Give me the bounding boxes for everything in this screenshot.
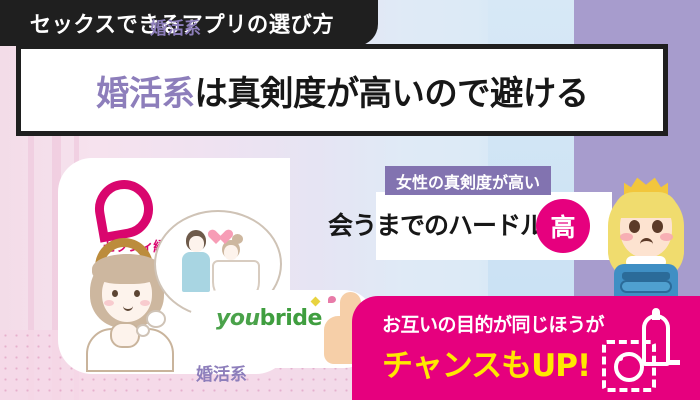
woman-blush-right: [140, 300, 150, 306]
princess-blush-right: [660, 233, 673, 241]
condom-icon: [602, 314, 678, 386]
princess-fringe: [614, 192, 678, 218]
cta-line-2: チャンスもUP!: [382, 340, 590, 385]
status-badge-label: 高: [550, 208, 575, 244]
condom-tail: [668, 360, 680, 365]
promo-banner: セックスできるアプリの選び方 婚活系は真剣度が高いので避ける ゼクシィ縁結び: [0, 0, 700, 400]
woman-eye-right: [134, 290, 140, 297]
youbride-logo-you: you: [216, 306, 260, 331]
cta-banner: お互いの目的が同じほうが チャンスもUP!: [352, 296, 700, 400]
cta-line-1: お互いの目的が同じほうが: [382, 310, 604, 337]
bride-face: [224, 245, 238, 260]
seriousness-tag: 女性の真剣度が高い: [385, 166, 551, 195]
woman-eye-left: [112, 290, 118, 297]
princess-eye-left: [629, 220, 640, 233]
condom-body: [642, 314, 670, 366]
hurdle-statement: 会うまでのハードル: [328, 206, 544, 242]
thought-bubble-dot: [146, 310, 166, 328]
princess-character: [596, 176, 696, 302]
seriousness-tag-label: 女性の真剣度が高い: [396, 169, 540, 193]
zexy-category-tag: 婚活系: [150, 14, 201, 39]
groom-face: [189, 236, 204, 252]
youbride-logo: youbride: [216, 306, 322, 331]
woman-fringe: [92, 254, 162, 284]
condom-package-dot: [618, 356, 623, 361]
woman-hand: [110, 322, 140, 348]
ring-pink-icon: [90, 175, 157, 242]
status-badge: 高: [536, 199, 590, 253]
groom-body: [182, 252, 210, 292]
page-title: 婚活系は真剣度が高いので避ける: [96, 66, 588, 115]
headline-box: 婚活系は真剣度が高いので避ける: [16, 44, 668, 136]
princess-blush-left: [620, 233, 633, 241]
princess-crossed-arms: [620, 280, 672, 293]
heart-icon: [212, 230, 228, 245]
condom-tip: [652, 308, 660, 320]
headline-rest: は真剣度が高いので避ける: [194, 74, 588, 114]
youbride-logo-bride: bride: [260, 306, 322, 331]
woman-blush-left: [104, 300, 114, 306]
thought-bubble-dot: [136, 324, 150, 337]
youbride-category-tag: 婚活系: [196, 360, 247, 385]
bride-bun: [232, 234, 243, 244]
princess-eye-right: [652, 220, 663, 233]
princess-mouth: [640, 238, 653, 248]
princess-belt: [622, 272, 670, 280]
headline-highlight: 婚活系: [96, 74, 194, 114]
